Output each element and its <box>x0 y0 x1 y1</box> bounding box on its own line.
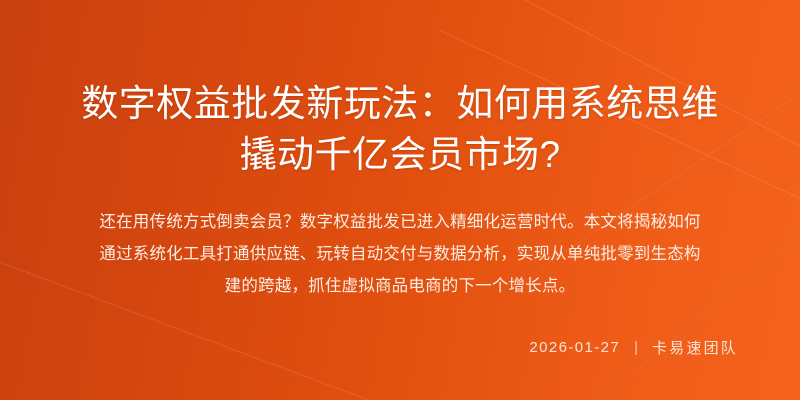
banner-content: 数字权益批发新玩法：如何用系统思维 撬动千亿会员市场? 还在用传统方式倒卖会员？… <box>0 0 800 400</box>
footer-separator: | <box>634 339 638 356</box>
author-name: 卡易速团队 <box>652 337 738 358</box>
article-cover-banner: 数字权益批发新玩法：如何用系统思维 撬动千亿会员市场? 还在用传统方式倒卖会员？… <box>0 0 800 400</box>
layout-spacer <box>28 302 772 337</box>
title-line-2: 撬动千亿会员市场? <box>28 129 772 180</box>
page-subtitle: 还在用传统方式倒卖会员？数字权益批发已进入精细化运营时代。本文将揭秘如何 通过系… <box>28 206 772 302</box>
subtitle-line-1: 还在用传统方式倒卖会员？数字权益批发已进入精细化运营时代。本文将揭秘如何 <box>42 206 758 238</box>
subtitle-line-2: 通过系统化工具打通供应链、玩转自动交付与数据分析，实现从单纯批零到生态构 <box>42 238 758 270</box>
page-title: 数字权益批发新玩法：如何用系统思维 撬动千亿会员市场? <box>28 78 772 180</box>
publish-date: 2026-01-27 <box>529 339 620 356</box>
banner-footer: 2026-01-27 | 卡易速团队 <box>28 337 772 358</box>
title-line-1: 数字权益批发新玩法：如何用系统思维 <box>28 78 772 129</box>
subtitle-line-3: 建的跨越，抓住虚拟商品电商的下一个增长点。 <box>42 270 758 302</box>
